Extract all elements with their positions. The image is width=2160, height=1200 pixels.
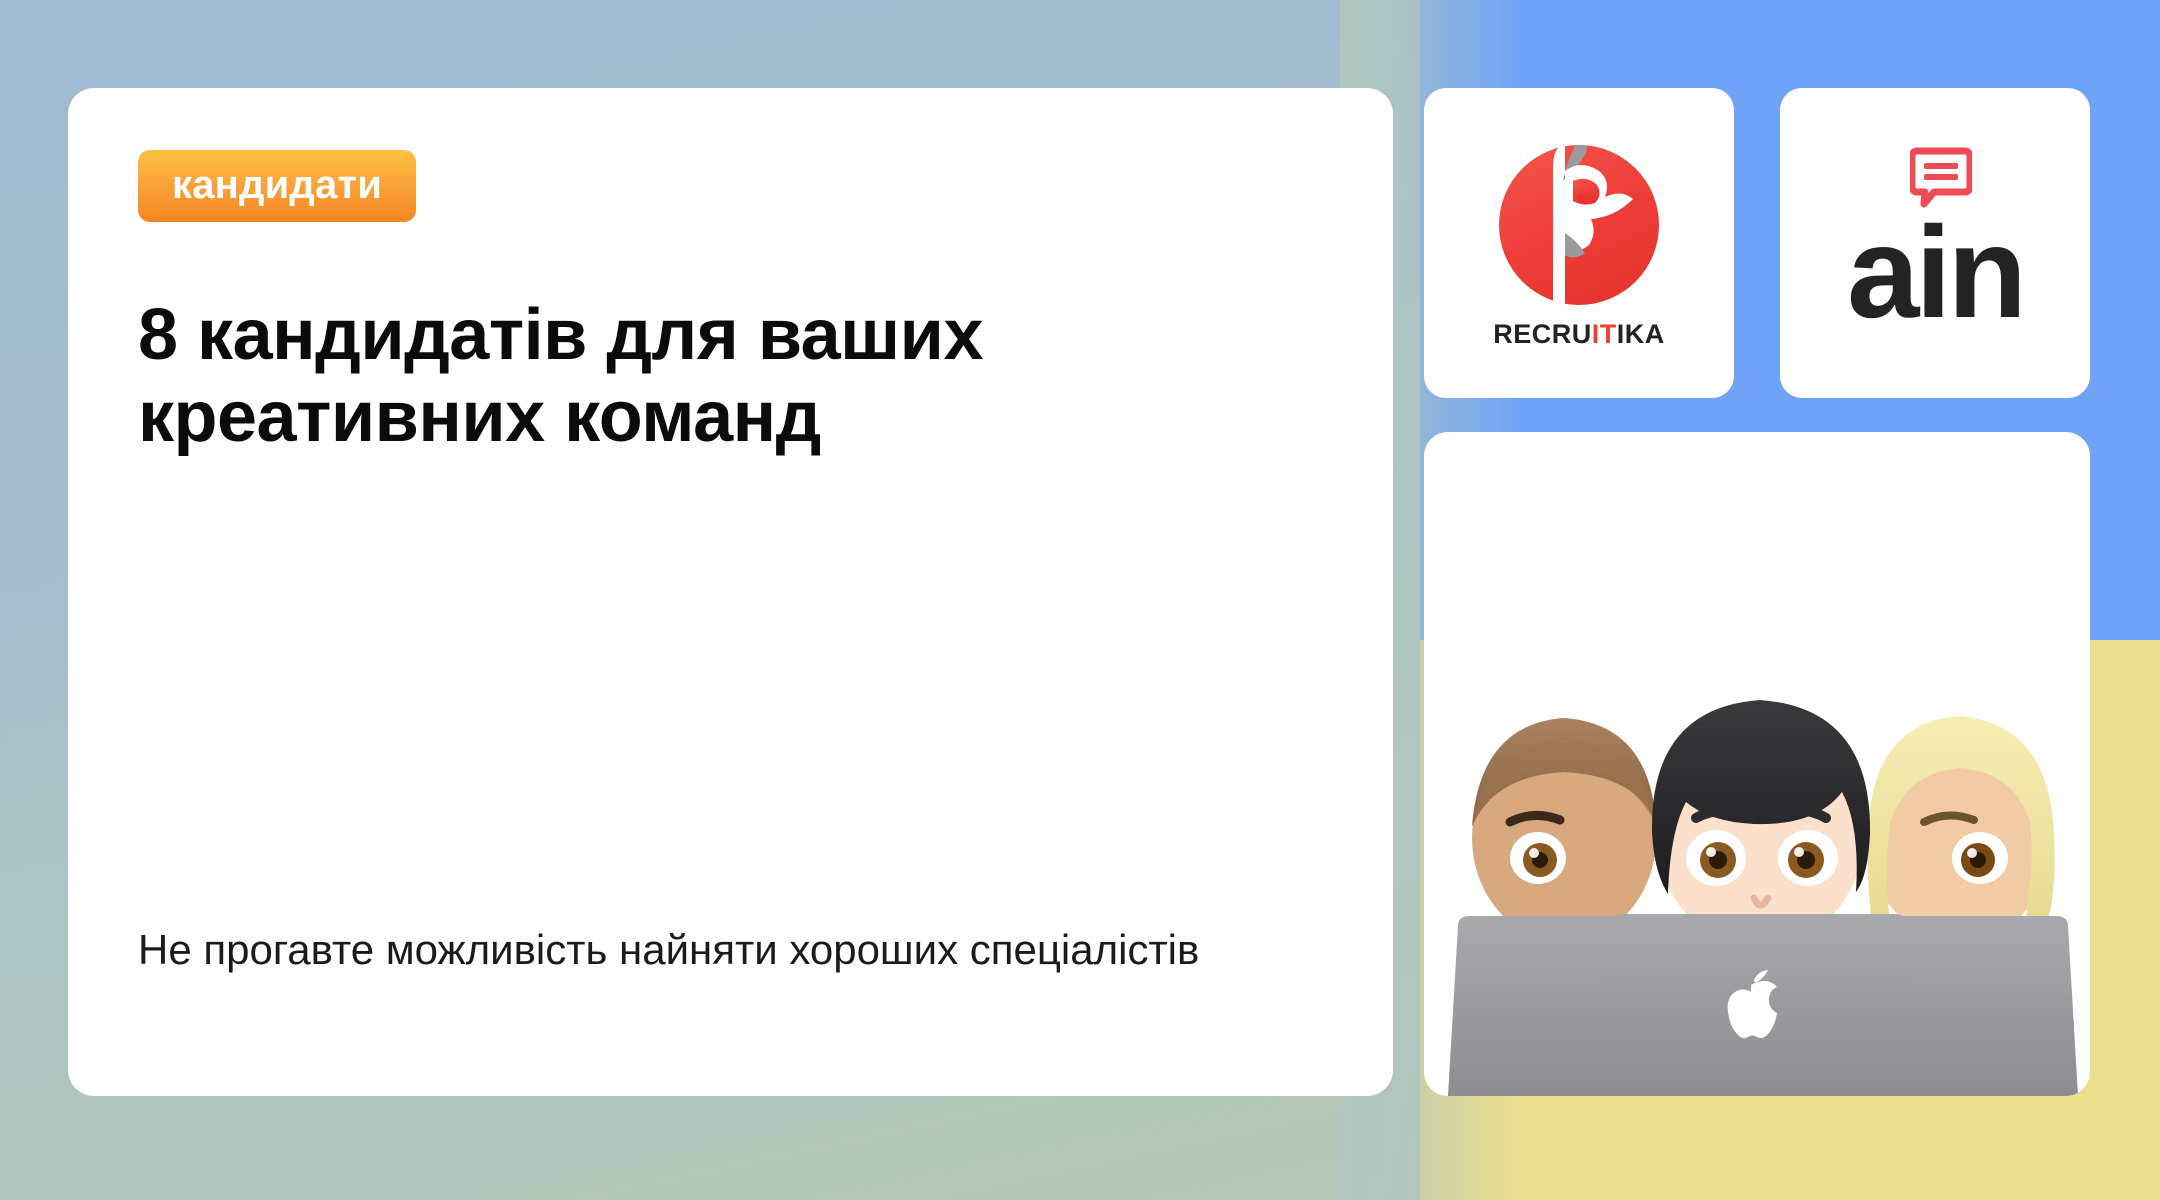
people-with-laptops-icon [1424, 626, 2090, 1096]
recruitika-logo-card[interactable]: RECRUITIKA [1424, 88, 1734, 398]
recruitika-word-accent: IT [1592, 319, 1617, 349]
promo-banner: кандидати 8 кандидатів для ваших креатив… [0, 0, 2160, 1200]
recruitika-word-prefix: RECRU [1493, 319, 1592, 349]
recruitika-word-suffix: IKA [1617, 319, 1665, 349]
page-title: 8 кандидатів для ваших креативних команд [138, 294, 1198, 458]
main-content-card: кандидати 8 кандидатів для ваших креатив… [68, 88, 1393, 1096]
ain-logo-card[interactable]: ain [1780, 88, 2090, 398]
recruitika-goat-icon [1493, 137, 1665, 309]
category-badge[interactable]: кандидати [138, 150, 416, 222]
recruitika-wordmark: RECRUITIKA [1493, 319, 1665, 350]
subtitle-text: Не прогавте можливість найняти хороших с… [138, 922, 1278, 978]
ain-wordmark: ain [1804, 207, 2066, 337]
team-photo-card [1424, 432, 2090, 1096]
